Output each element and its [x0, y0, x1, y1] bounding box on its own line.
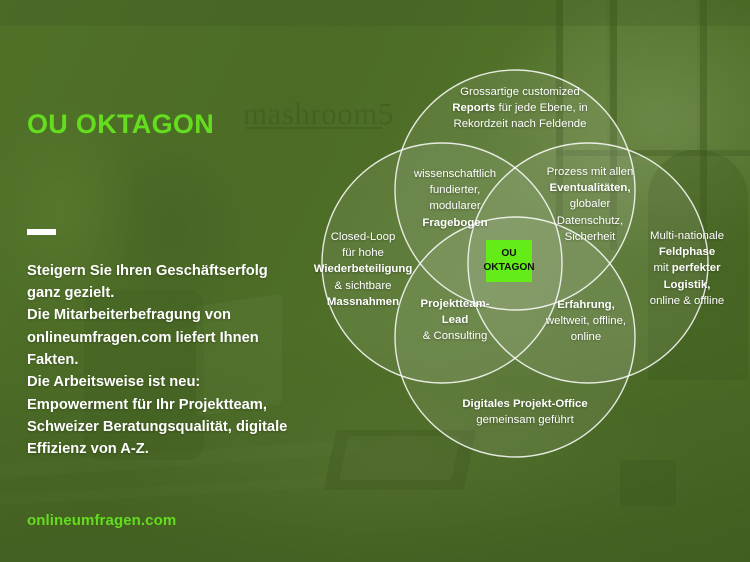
venn-label-line: Sicherheit	[565, 231, 616, 243]
venn-label-line: modularer	[429, 200, 480, 212]
venn-label-line: online & offline	[650, 295, 725, 307]
venn-label-line-tail: für jede Ebene, in	[495, 102, 587, 114]
intro-line: ganz gezielt.	[27, 282, 307, 304]
venn-label-line-bold: Wiederbeteiligung	[314, 263, 413, 275]
title-divider	[27, 229, 56, 235]
center-badge-line1: OU	[501, 247, 516, 261]
venn-label-line-bold: Logistik,	[664, 279, 711, 291]
venn-label-line-bold: Lead	[442, 314, 469, 326]
venn-label-line-bold: Projektteam-	[420, 298, 489, 310]
venn-label-upper-left: wissenschaftlich fundierter, modularer F…	[396, 166, 514, 231]
venn-label-line-bold: Eventualitäten,	[549, 182, 630, 194]
venn-label-line: mit	[653, 262, 671, 274]
intro-line: onlineumfragen.com liefert Ihnen	[27, 327, 307, 349]
intro-line: Effizienz von A-Z.	[27, 438, 307, 460]
intro-line: Empowerment für Ihr Projektteam,	[27, 394, 307, 416]
venn-label-line-bold: Reports	[452, 102, 495, 114]
slide-canvas: mashroom5 OU OKTAGON Steigern Sie Ihren …	[0, 0, 750, 562]
venn-label-line: gemeinsam geführt	[476, 414, 574, 426]
center-badge: OU OKTAGON	[486, 240, 532, 282]
venn-label-line: Closed-Loop	[331, 231, 396, 243]
venn-label-line-bold: perfekter	[672, 262, 721, 274]
venn-label-line-bold: Massnahmen	[327, 296, 399, 308]
venn-label-lower-left: Projektteam- Lead & Consulting	[396, 296, 514, 345]
venn-label-line: Grossartige customized	[460, 86, 580, 98]
venn-label-line: für hohe	[342, 247, 384, 259]
venn-label-line: weltweit, offline,	[546, 315, 626, 327]
intro-line: Fakten.	[27, 349, 307, 371]
footer-brand: onlineumfragen.com	[27, 512, 176, 529]
page-title: OU OKTAGON	[27, 110, 307, 140]
venn-label-line-bold: Fragebogen	[422, 217, 487, 229]
intro-line: Steigern Sie Ihren Geschäftserfolg	[27, 260, 307, 282]
intro-line: Die Arbeitsweise ist neu:	[27, 371, 307, 393]
venn-label-bottom: Digitales Projekt-Office gemeinsam gefüh…	[428, 396, 622, 428]
venn-label-line: & sichtbare	[335, 280, 392, 292]
intro-line: Die Mitarbeiterbefragung von	[27, 304, 307, 326]
venn-label-line: wissenschaftlich	[414, 168, 496, 180]
venn-label-line: Prozess mit allen	[547, 166, 634, 178]
venn-label-line: fundierter,	[430, 184, 481, 196]
venn-label-line: & Consulting	[423, 330, 488, 342]
venn-label-line: online	[571, 331, 601, 343]
venn-label-line-bold: Feldphase	[659, 246, 715, 258]
venn-label-top: Grossartige customized Reports für jede …	[412, 84, 628, 133]
venn-label-line: Rekordzeit nach Feldende	[454, 118, 587, 130]
left-text-column: OU OKTAGON Steigern Sie Ihren Geschäftse…	[27, 110, 307, 461]
venn-label-line-bold: Digitales Projekt-Office	[462, 398, 587, 410]
venn-label-line: Multi-nationale	[650, 230, 724, 242]
intro-line: Schweizer Beratungsqualität, digitale	[27, 416, 307, 438]
venn-label-line: Datenschutz,	[557, 215, 623, 227]
intro-paragraphs: Steigern Sie Ihren Geschäftserfolg ganz …	[27, 260, 307, 461]
venn-label-lower-right: Erfahrung, weltweit, offline, online	[526, 297, 646, 346]
venn-label-line: globaler	[570, 198, 611, 210]
center-badge-line2: OKTAGON	[483, 261, 534, 275]
venn-label-line-bold: Erfahrung,	[557, 299, 615, 311]
